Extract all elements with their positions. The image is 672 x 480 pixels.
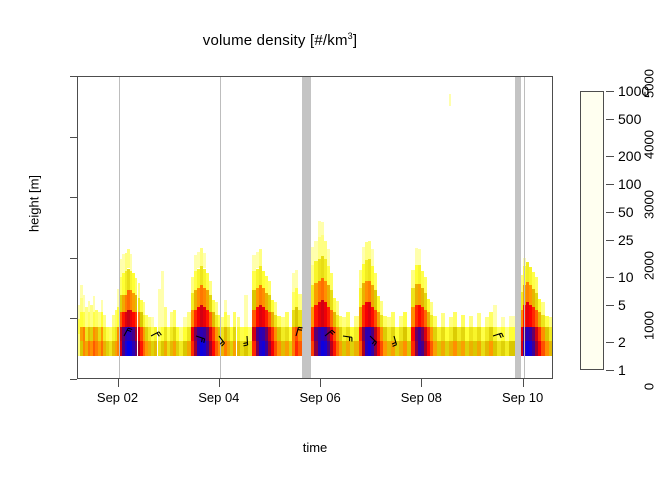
x-axis-label: Sep 04 bbox=[198, 390, 239, 405]
y-axis-tick bbox=[70, 76, 77, 77]
heatmap-panel[interactable] bbox=[77, 76, 553, 379]
x-axis-tick bbox=[118, 379, 119, 387]
heatmap-cell bbox=[130, 254, 133, 271]
heatmap-cell bbox=[203, 253, 206, 269]
x-axis-tick bbox=[219, 379, 220, 387]
heatmap-cell bbox=[549, 317, 552, 327]
heatmap-cell bbox=[215, 302, 218, 314]
heatmap-cell bbox=[541, 302, 545, 314]
wind-barb-icon bbox=[337, 327, 353, 343]
wind-barb-icon bbox=[388, 327, 404, 343]
heatmap-cell bbox=[461, 315, 465, 327]
colorbar-label: 1 bbox=[618, 362, 626, 378]
heatmap-cell bbox=[433, 316, 437, 327]
x-axis-tick bbox=[320, 379, 321, 387]
heatmap-cell bbox=[330, 273, 333, 290]
y-axis bbox=[69, 76, 77, 379]
colorbar-tick bbox=[606, 184, 614, 185]
x-axis-label: Sep 10 bbox=[502, 390, 543, 405]
heatmap-cell bbox=[418, 249, 421, 265]
heatmap-cell bbox=[151, 317, 154, 327]
colorbar-label: 10 bbox=[618, 269, 634, 285]
heatmap-cell bbox=[374, 273, 377, 290]
heatmap-cell bbox=[285, 312, 289, 327]
colorbar-tick bbox=[606, 370, 614, 371]
chart-root: volume density [#/km3] height [m] Sep 02… bbox=[0, 0, 672, 480]
wind-barb-icon bbox=[290, 327, 306, 343]
chart-title-tail: ] bbox=[353, 32, 357, 49]
heatmap-cell bbox=[535, 277, 538, 293]
x-axis: Sep 02Sep 04Sep 06Sep 08Sep 10 bbox=[77, 379, 553, 387]
colorbar-label: 500 bbox=[618, 111, 641, 127]
y-axis-tick bbox=[70, 137, 77, 138]
heatmap-cell bbox=[138, 283, 141, 298]
y-axis-label: 1000 bbox=[642, 311, 657, 340]
colorbar-tick bbox=[606, 91, 614, 92]
chart-title: volume density [#/km3] bbox=[0, 31, 560, 49]
heatmap-cell bbox=[493, 305, 497, 327]
heatmap-cell bbox=[227, 315, 230, 327]
colorbar-label: 5 bbox=[618, 297, 626, 313]
heatmap-cell bbox=[549, 341, 552, 356]
y-axis-label: 3000 bbox=[642, 190, 657, 219]
heatmap-cell bbox=[403, 312, 407, 327]
colorbar-label: 25 bbox=[618, 232, 634, 248]
y-axis-tick bbox=[70, 318, 77, 319]
heatmap-cell bbox=[259, 249, 262, 266]
heatmap-cell bbox=[336, 301, 339, 314]
heatmap-cell bbox=[441, 313, 445, 326]
colorbar-tick bbox=[606, 305, 614, 306]
colorbar-label: 200 bbox=[618, 148, 641, 164]
colorbar-gradient bbox=[581, 92, 603, 369]
heatmap-cell bbox=[424, 277, 427, 293]
chart-title-base: volume density [#/km bbox=[203, 32, 348, 49]
y-axis-label: 0 bbox=[642, 383, 657, 390]
colorbar-label: 50 bbox=[618, 204, 634, 220]
y-axis-tick bbox=[70, 197, 77, 198]
y-axis-title: height [m] bbox=[27, 164, 42, 244]
missing-data-band bbox=[515, 77, 521, 378]
heatmap-cell bbox=[173, 310, 176, 327]
heatmap-cell bbox=[477, 313, 481, 326]
wind-barb-icon bbox=[487, 327, 503, 343]
heatmap-cell bbox=[469, 316, 473, 327]
heatmap-cell bbox=[501, 317, 505, 327]
heatmap-cell bbox=[295, 270, 298, 288]
heatmap-cell bbox=[268, 281, 271, 296]
heatmap-cell bbox=[209, 281, 212, 296]
wind-barb-icon bbox=[118, 327, 134, 343]
x-axis-tick bbox=[421, 379, 422, 387]
heatmap-cell bbox=[346, 312, 350, 327]
heatmap-cell bbox=[143, 302, 146, 314]
heatmap-cell bbox=[274, 302, 277, 314]
x-axis-tick bbox=[523, 379, 524, 387]
y-axis-tick bbox=[70, 379, 77, 380]
heatmap-cell bbox=[549, 327, 552, 342]
heatmap-cell bbox=[430, 302, 433, 314]
heatmap-cell bbox=[164, 307, 167, 326]
y-axis-label: 2000 bbox=[642, 251, 657, 280]
heatmap-cell bbox=[237, 317, 241, 327]
x-axis-label: Sep 08 bbox=[401, 390, 442, 405]
heatmap-cell bbox=[103, 315, 106, 327]
colorbar[interactable] bbox=[580, 91, 604, 370]
x-axis-label: Sep 06 bbox=[299, 390, 340, 405]
heatmap-cell bbox=[321, 222, 324, 234]
heatmap-cell bbox=[244, 295, 248, 327]
gridline bbox=[524, 77, 525, 378]
heatmap-cell bbox=[101, 300, 104, 312]
wind-barb-icon bbox=[241, 327, 257, 343]
heatmap-cell bbox=[380, 301, 383, 314]
wind-barb-icon bbox=[145, 327, 161, 343]
wind-barb-icon bbox=[364, 327, 380, 343]
wind-barb-icon bbox=[213, 327, 229, 343]
heatmap-cell bbox=[371, 249, 374, 266]
colorbar-tick bbox=[606, 119, 614, 120]
colorbar-tick bbox=[606, 342, 614, 343]
heatmap-cell bbox=[224, 300, 227, 312]
colorbar-tick bbox=[606, 156, 614, 157]
wind-barb-icon bbox=[319, 327, 335, 343]
heatmap-cell-outlier bbox=[449, 94, 451, 106]
heatmap-cell bbox=[327, 249, 330, 266]
y-axis-label: 4000 bbox=[642, 130, 657, 159]
x-axis-label: Sep 02 bbox=[97, 390, 138, 405]
colorbar-tick bbox=[606, 212, 614, 213]
y-axis-tick bbox=[70, 258, 77, 259]
colorbar-label: 1000 bbox=[618, 83, 649, 99]
wind-barb-icon bbox=[190, 327, 206, 343]
x-axis-title: time bbox=[77, 440, 553, 455]
colorbar-tick bbox=[606, 277, 614, 278]
colorbar-label: 2 bbox=[618, 334, 626, 350]
heatmap-cell bbox=[453, 312, 457, 327]
heatmap-cell bbox=[391, 312, 395, 327]
colorbar-label: 100 bbox=[618, 176, 641, 192]
colorbar-tick bbox=[606, 240, 614, 241]
